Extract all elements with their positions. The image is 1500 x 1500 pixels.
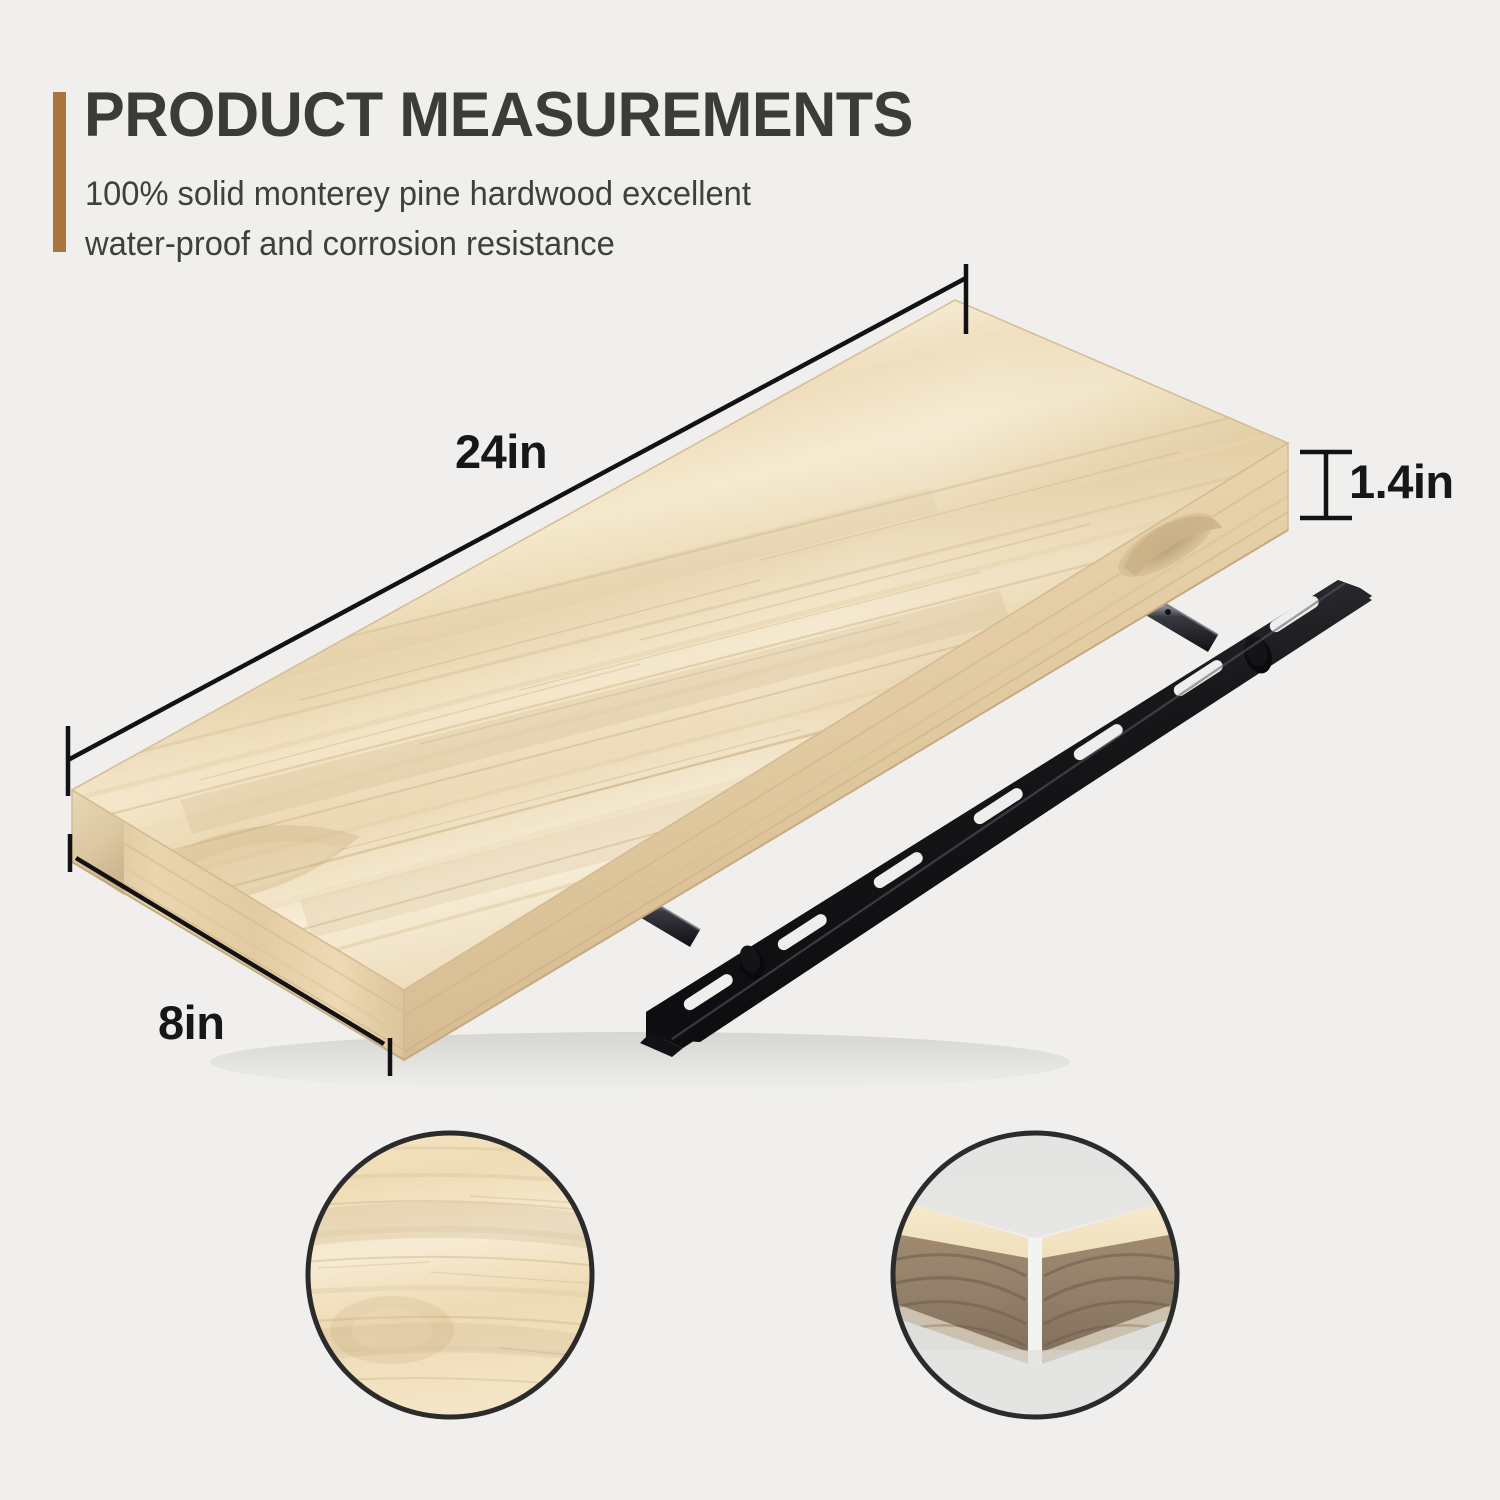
inset-edge-joint-closeup (885, 1125, 1185, 1425)
infographic-canvas: PRODUCT MEASUREMENTS 100% solid monterey… (0, 0, 1500, 1500)
inset-grain-closeup (300, 1125, 600, 1425)
detail-insets (0, 0, 1500, 1500)
